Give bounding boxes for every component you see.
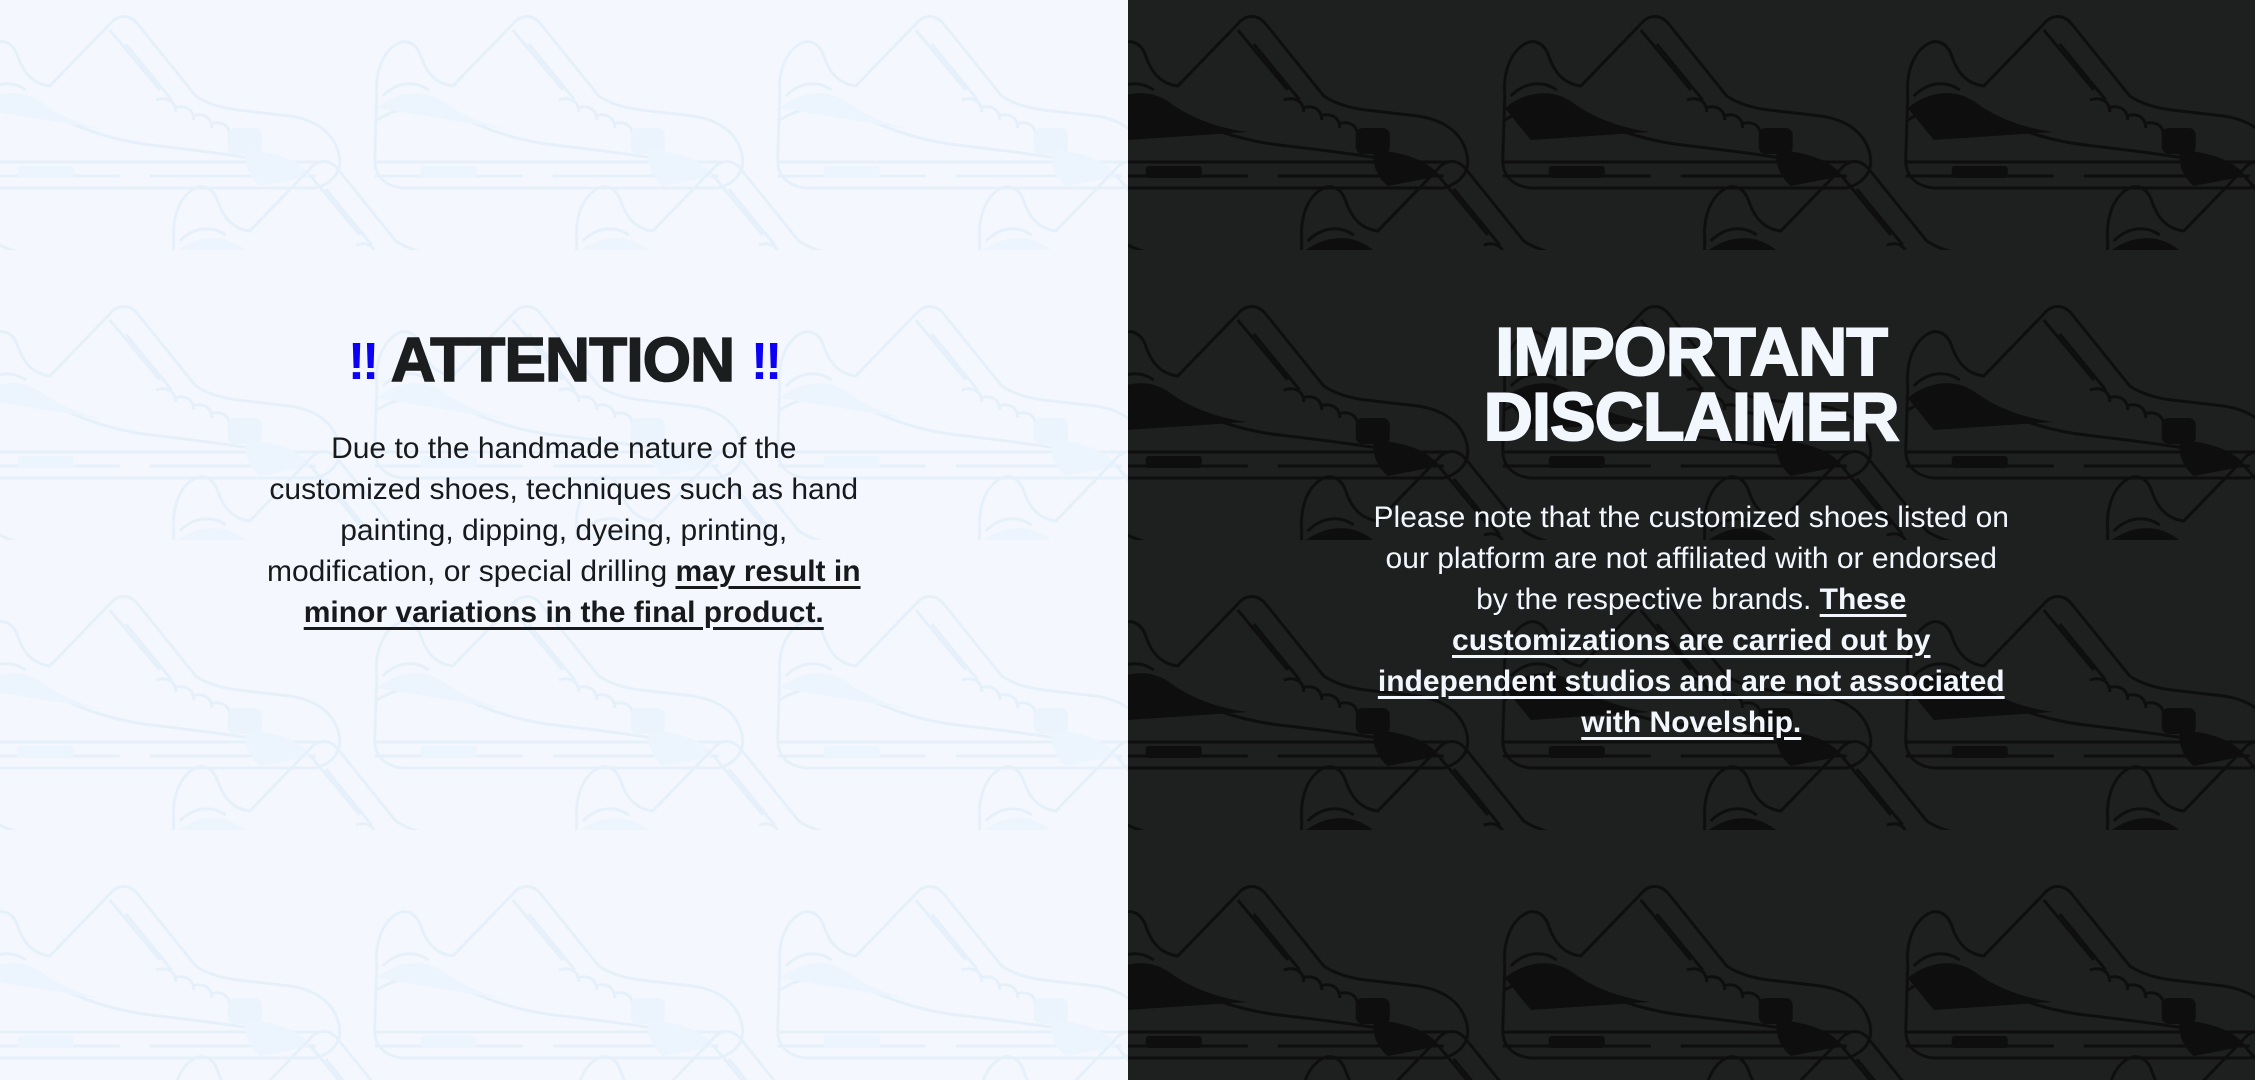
double-exclamation-right-icon: ‼	[751, 333, 780, 391]
disclaimer-content: IMPORTANT DISCLAIMER Please note that th…	[1128, 0, 2255, 743]
two-panel-notice: ‼ ATTENTION ‼ Due to the handmade nature…	[0, 0, 2255, 1080]
double-exclamation-left-icon: ‼	[348, 333, 377, 391]
attention-heading-text: ATTENTION	[391, 326, 734, 395]
attention-panel: ‼ ATTENTION ‼ Due to the handmade nature…	[0, 0, 1128, 1080]
disclaimer-heading: IMPORTANT DISCLAIMER	[1484, 320, 1899, 451]
attention-heading: ‼ ATTENTION ‼	[348, 330, 780, 392]
attention-content: ‼ ATTENTION ‼ Due to the handmade nature…	[0, 0, 1128, 633]
disclaimer-heading-line-2: DISCLAIMER	[1484, 379, 1899, 455]
attention-body: Due to the handmade nature of the custom…	[254, 428, 874, 633]
disclaimer-panel: IMPORTANT DISCLAIMER Please note that th…	[1128, 0, 2255, 1080]
disclaimer-body: Please note that the customized shoes li…	[1366, 497, 2016, 744]
disclaimer-body-text: Please note that the customized shoes li…	[1374, 501, 2009, 616]
